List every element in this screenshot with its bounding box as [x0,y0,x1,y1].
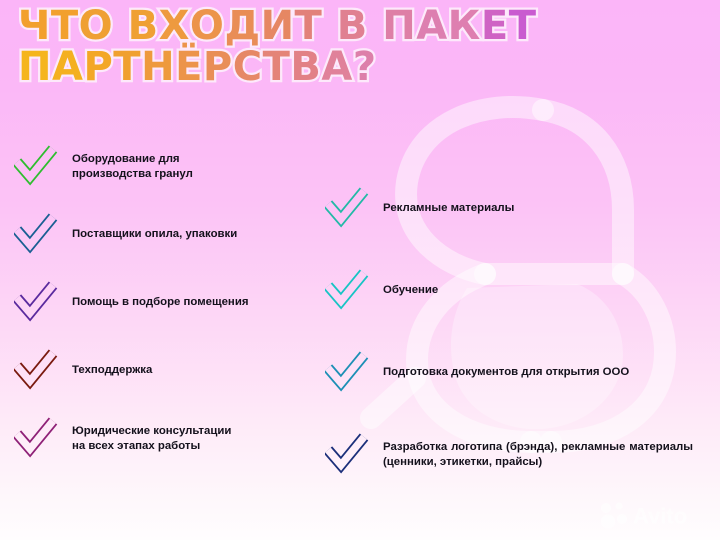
benefit-left-item: Техподдержка [14,352,324,392]
poster-canvas: ЧТО ВХОДИТ В ПАКЕТ ПАРТНЁРСТВА? Оборудов… [0,0,720,540]
title-char: Д [224,8,260,45]
checkmark-wrapper [325,350,369,394]
benefit-right-item-label: Подготовка документов для открытия ООО [383,354,629,380]
checkmark-wrapper [325,186,369,230]
checkmark-icon [14,144,58,188]
title-char: А [416,8,447,45]
title-char: В [128,8,159,45]
title-char: Т [295,8,323,45]
checkmark-icon [14,416,58,460]
title-char: И [261,8,295,45]
title-char: Н [141,49,175,86]
title-char: А [321,49,352,86]
title-char: О [79,8,114,45]
checkmark-icon [14,212,58,256]
checkmark-wrapper [325,432,369,476]
benefit-left-item: Помощь в подборе помещения [14,284,324,324]
checkmark-wrapper [14,348,58,392]
checkmark-icon [14,280,58,324]
benefit-left-item-label: Оборудование для производства гранул [72,148,193,181]
title-char: П [382,8,416,45]
benefits-left-column: Оборудование для производства гранулПост… [14,148,324,488]
benefit-left-item-label: Юридические консультации на всех этапах … [72,420,231,453]
checkmark-icon [14,348,58,392]
benefit-right-item: Рекламные материалы [325,190,710,230]
title-char: Т [263,49,291,86]
title-line-2: ПАРТНЁРСТВА? [18,49,638,86]
checkmark-icon [325,268,369,312]
title-char [322,8,336,45]
checkmark-wrapper [325,268,369,312]
title-char: С [233,49,263,86]
benefit-left-item: Оборудование для производства гранул [14,148,324,188]
title-char: Т [51,8,79,45]
checkmark-icon [325,432,369,476]
benefit-right-item: Подготовка документов для открытия ООО [325,354,710,394]
poster-title: ЧТО ВХОДИТ В ПАКЕТ ПАРТНЁРСТВА? [18,8,638,86]
benefit-left-item-label: Техподдержка [72,352,152,378]
title-char: Ё [175,49,203,86]
checkmark-icon [325,186,369,230]
checkmark-wrapper [14,280,58,324]
avito-logo-icon: Avito [598,500,706,530]
avito-watermark: Avito [598,500,706,530]
checkmark-wrapper [14,144,58,188]
benefit-right-item-label: Разработка логотипа (брэнда), рекламные … [383,436,693,469]
title-char: Ч [18,8,51,45]
title-char: В [337,8,368,45]
benefit-right-item: Обучение [325,272,710,312]
title-char: О [190,8,225,45]
checkmark-wrapper [14,416,58,460]
title-char: Р [83,49,113,86]
title-line-1: ЧТО ВХОДИТ В ПАКЕТ [18,8,638,45]
checkmark-icon [325,350,369,394]
benefits-right-column: Рекламные материалыОбучениеПодготовка до… [325,190,710,518]
benefit-right-item: Разработка логотипа (брэнда), рекламные … [325,436,710,476]
title-char: Е [481,8,509,45]
benefit-right-item-label: Рекламные материалы [383,190,514,216]
benefit-left-item: Поставщики опила, упаковки [14,216,324,256]
avito-wordmark: Avito [633,504,687,529]
benefit-left-item: Юридические консультации на всех этапах … [14,420,324,460]
title-char: Т [509,8,537,45]
title-char: А [52,49,83,86]
benefit-left-item-label: Помощь в подборе помещения [72,284,248,310]
checkmark-wrapper [14,212,58,256]
title-char: В [290,49,321,86]
title-char [113,8,127,45]
title-char [368,8,382,45]
title-char: Р [203,49,233,86]
benefit-right-item-label: Обучение [383,272,438,298]
title-char: П [18,49,52,86]
title-char: ? [353,49,377,86]
benefit-left-item-label: Поставщики опила, упаковки [72,216,237,242]
title-char: Х [159,8,190,45]
title-char: Т [113,49,141,86]
title-char: К [448,8,481,45]
